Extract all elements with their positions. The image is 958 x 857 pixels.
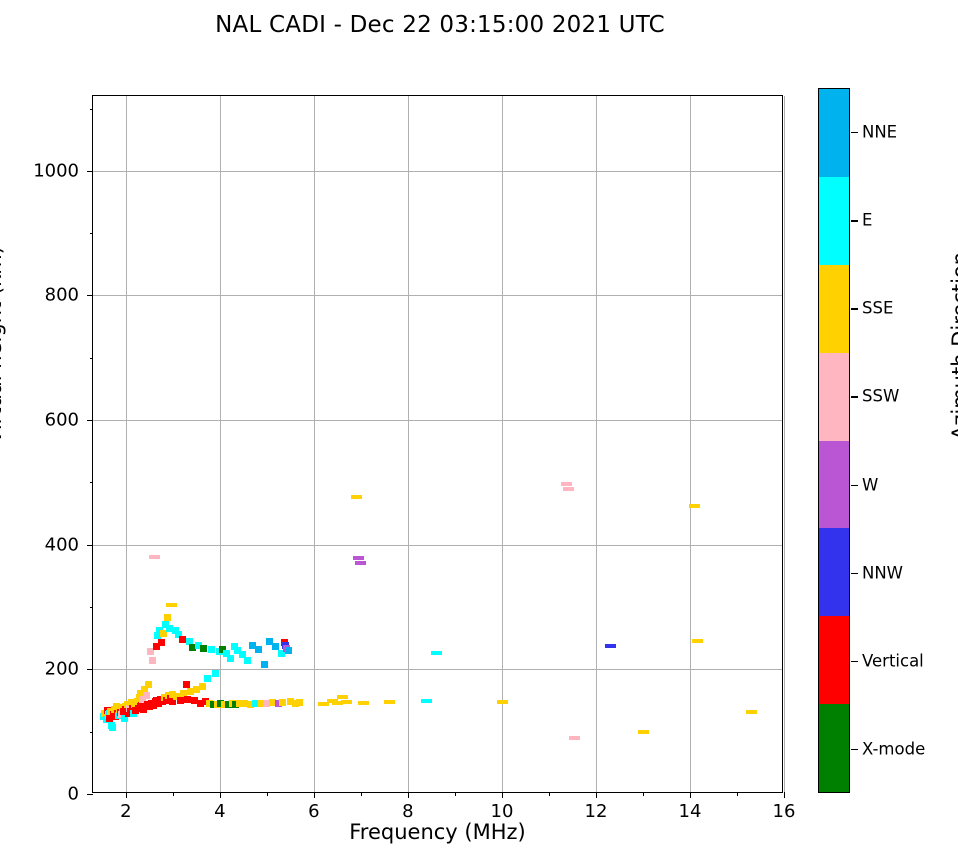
data-mark [355, 561, 366, 565]
colorbar-tick [851, 485, 858, 486]
data-mark [638, 730, 649, 734]
colorbar-segment-vertical [819, 616, 849, 704]
x-tick-label: 6 [308, 801, 319, 822]
y-tick-minor [90, 482, 94, 483]
x-tick [502, 792, 503, 798]
x-tick-minor [173, 792, 174, 796]
x-tick-label: 10 [491, 801, 514, 822]
x-tick-label: 14 [679, 801, 702, 822]
gridline-vertical [408, 96, 409, 792]
data-mark [279, 699, 286, 706]
data-mark [199, 683, 206, 690]
x-tick-label: 12 [585, 801, 608, 822]
x-axis-title: Frequency (MHz) [92, 820, 783, 844]
x-tick-label: 16 [773, 801, 796, 822]
y-tick [87, 295, 93, 296]
data-mark [145, 681, 152, 688]
data-mark [261, 661, 268, 668]
x-tick [314, 792, 315, 798]
x-tick-label: 2 [120, 801, 131, 822]
colorbar-label-x-mode: X-mode [862, 739, 925, 758]
colorbar-tick [851, 573, 858, 574]
data-mark [497, 700, 508, 704]
gridline-vertical [502, 96, 503, 792]
data-mark [353, 556, 364, 560]
colorbar-segment-ssw [819, 353, 849, 441]
y-tick [87, 545, 93, 546]
data-mark [244, 657, 251, 664]
y-tick [87, 171, 93, 172]
gridline-vertical [220, 96, 221, 792]
data-mark [177, 697, 184, 704]
y-tick-label: 1000 [33, 160, 79, 181]
colorbar-segment-nne [819, 89, 849, 177]
gridline-horizontal [93, 420, 782, 421]
data-mark [143, 692, 150, 699]
data-mark [166, 603, 177, 607]
data-mark [149, 555, 160, 559]
colorbar [818, 88, 850, 793]
x-tick [126, 792, 127, 798]
data-mark [746, 710, 757, 714]
colorbar-tick [851, 220, 858, 221]
colorbar-label-sse: SSE [862, 299, 893, 318]
data-mark [569, 736, 580, 740]
data-mark [227, 655, 234, 662]
colorbar-segment-e [819, 177, 849, 265]
data-mark [431, 651, 442, 655]
colorbar-segment-w [819, 441, 849, 529]
data-mark [208, 646, 215, 653]
data-mark [563, 487, 574, 491]
data-mark [384, 700, 395, 704]
gridline-horizontal [93, 295, 782, 296]
colorbar-label-w: W [862, 475, 878, 494]
y-tick [87, 420, 93, 421]
data-mark [212, 670, 219, 677]
x-tick-minor [737, 792, 738, 796]
y-axis-title: Virtual height (km) [0, 246, 6, 444]
data-mark [351, 495, 362, 499]
data-mark [255, 646, 262, 653]
y-tick-minor [90, 607, 94, 608]
y-tick-minor [90, 233, 94, 234]
data-mark [109, 724, 116, 731]
y-tick [87, 669, 93, 670]
x-tick [408, 792, 409, 798]
x-tick-minor [361, 792, 362, 796]
y-tick [87, 794, 93, 795]
colorbar-tick [851, 132, 858, 133]
colorbar-label-e: E [862, 211, 872, 230]
y-tick-label: 600 [45, 410, 79, 431]
gridline-vertical [126, 96, 127, 792]
data-mark [158, 639, 165, 646]
page-title: NAL CADI - Dec 22 03:15:00 2021 UTC [0, 12, 880, 38]
data-mark [164, 614, 171, 621]
colorbar-tick [851, 308, 858, 309]
y-tick-label: 800 [45, 285, 79, 306]
y-tick-label: 0 [68, 784, 79, 805]
x-tick-label: 8 [402, 801, 413, 822]
data-mark [692, 639, 703, 643]
data-mark [200, 645, 207, 652]
x-tick-minor [549, 792, 550, 796]
plot-area: 24681012141602004006008001000 [92, 95, 783, 793]
colorbar-label-nne: NNE [862, 123, 897, 142]
data-mark [689, 504, 700, 508]
gridline-vertical [596, 96, 597, 792]
data-mark [296, 699, 303, 706]
data-mark [358, 701, 369, 705]
gridline-vertical [690, 96, 691, 792]
x-tick-minor [643, 792, 644, 796]
colorbar-label-ssw: SSW [862, 387, 899, 406]
y-tick-label: 400 [45, 534, 79, 555]
data-mark [341, 700, 352, 704]
data-mark [605, 644, 616, 648]
gridline-horizontal [93, 171, 782, 172]
colorbar-segment-x-mode [819, 704, 849, 792]
data-mark [421, 699, 432, 703]
colorbar-tick [851, 396, 858, 397]
x-tick [784, 792, 785, 798]
data-mark [179, 636, 186, 643]
x-tick [220, 792, 221, 798]
gridline-vertical [784, 96, 785, 792]
colorbar-tick [851, 749, 858, 750]
colorbar-label-nnw: NNW [862, 563, 903, 582]
y-tick-minor [90, 109, 94, 110]
gridline-vertical [314, 96, 315, 792]
x-tick [596, 792, 597, 798]
y-tick-minor [90, 358, 94, 359]
gridline-horizontal [93, 669, 782, 670]
colorbar-label-vertical: Vertical [862, 651, 924, 670]
data-mark [204, 675, 211, 682]
data-mark [561, 482, 572, 486]
x-tick-label: 4 [214, 801, 225, 822]
gridline-horizontal [93, 545, 782, 546]
colorbar-title: Azimuth Direction [948, 252, 958, 440]
colorbar-segment-nnw [819, 528, 849, 616]
x-tick-minor [455, 792, 456, 796]
data-mark [184, 696, 191, 703]
x-tick [690, 792, 691, 798]
colorbar-tick [851, 661, 858, 662]
data-mark [149, 657, 156, 664]
colorbar-segment-sse [819, 265, 849, 353]
x-tick-minor [267, 792, 268, 796]
y-tick-label: 200 [45, 659, 79, 680]
y-tick-minor [90, 732, 94, 733]
data-mark [337, 695, 348, 699]
data-mark [285, 647, 292, 654]
